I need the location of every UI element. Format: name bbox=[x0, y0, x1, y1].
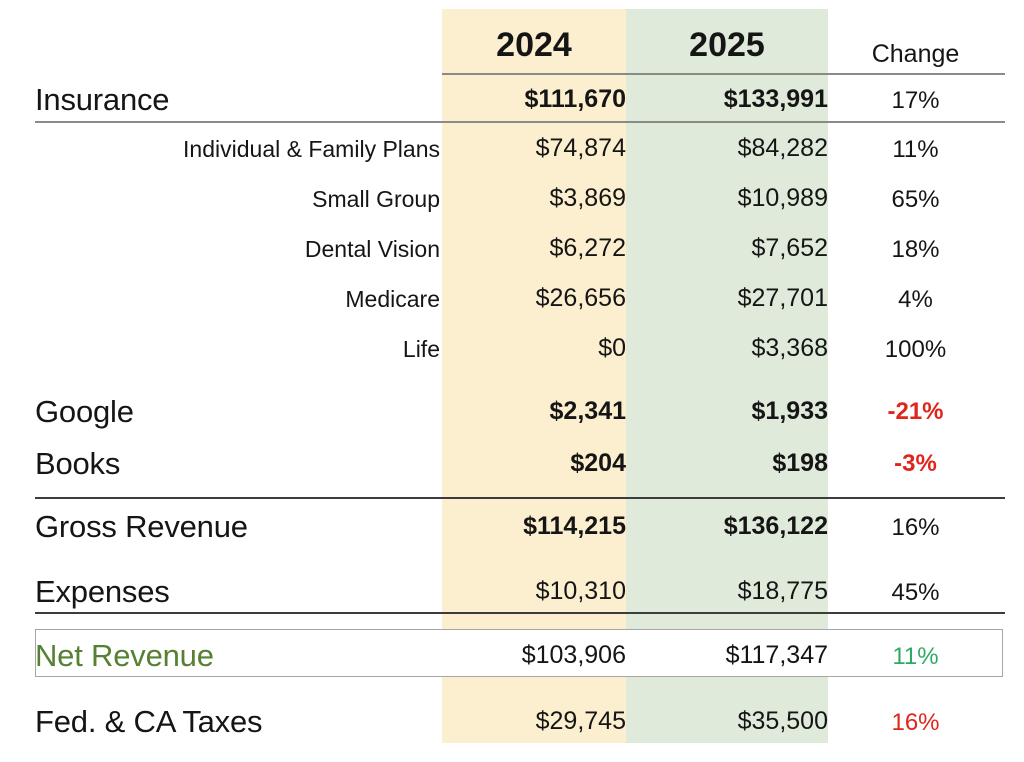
row-value-2024: $10,310 bbox=[442, 579, 626, 604]
row-label-fed-ca-taxes: Fed. & CA Taxes bbox=[35, 706, 262, 737]
row-value-2025: $84,282 bbox=[626, 136, 828, 161]
row-value-2025: $136,122 bbox=[626, 514, 828, 539]
row-label-expenses: Expenses bbox=[35, 576, 170, 607]
row-value-2025: $10,989 bbox=[626, 186, 828, 211]
column-header-2024: 2024 bbox=[442, 28, 626, 62]
row-change: 11% bbox=[828, 138, 1003, 162]
row-value-2024: $0 bbox=[442, 336, 626, 361]
row-change: 18% bbox=[828, 238, 1003, 262]
row-change: 11% bbox=[828, 645, 1003, 669]
row-label-medicare: Medicare bbox=[40, 288, 440, 311]
row-label-gross-revenue: Gross Revenue bbox=[35, 511, 248, 542]
row-change: 4% bbox=[828, 288, 1003, 312]
row-value-2025: $18,775 bbox=[626, 579, 828, 604]
row-value-2025: $3,368 bbox=[626, 336, 828, 361]
row-value-2024: $26,656 bbox=[442, 286, 626, 311]
row-change: 100% bbox=[828, 338, 1003, 362]
row-value-2024: $103,906 bbox=[442, 643, 626, 668]
row-value-2025: $133,991 bbox=[626, 87, 828, 112]
row-value-2024: $6,272 bbox=[442, 236, 626, 261]
row-change: -21% bbox=[828, 400, 1003, 424]
row-label-individual-family-plans: Individual & Family Plans bbox=[40, 138, 440, 161]
row-change: 16% bbox=[828, 711, 1003, 735]
financial-summary-table: 2024 2025 Change Insurance $111,670 $133… bbox=[0, 0, 1024, 762]
row-value-2024: $111,670 bbox=[442, 87, 626, 112]
expenses-bottomline bbox=[35, 612, 1005, 614]
row-value-2024: $114,215 bbox=[442, 514, 626, 539]
column-header-2025: 2025 bbox=[626, 28, 828, 62]
row-value-2024: $204 bbox=[442, 451, 626, 476]
row-change: 65% bbox=[828, 188, 1003, 212]
header-underline bbox=[442, 73, 1005, 75]
column-header-change: Change bbox=[828, 42, 1003, 67]
row-label-insurance: Insurance bbox=[35, 84, 169, 115]
row-value-2024: $3,869 bbox=[442, 186, 626, 211]
row-change: -3% bbox=[828, 452, 1003, 476]
row-change: 16% bbox=[828, 516, 1003, 540]
row-value-2025: $7,652 bbox=[626, 236, 828, 261]
row-label-net-revenue: Net Revenue bbox=[35, 640, 214, 671]
insurance-underline bbox=[35, 121, 1005, 123]
row-value-2024: $2,341 bbox=[442, 399, 626, 424]
row-value-2024: $29,745 bbox=[442, 709, 626, 734]
row-label-google: Google bbox=[35, 396, 134, 427]
row-change: 17% bbox=[828, 89, 1003, 113]
row-value-2025: $117,347 bbox=[626, 643, 828, 668]
row-value-2025: $27,701 bbox=[626, 286, 828, 311]
row-value-2024: $74,874 bbox=[442, 136, 626, 161]
row-change: 45% bbox=[828, 581, 1003, 605]
row-label-life: Life bbox=[40, 338, 440, 361]
row-value-2025: $35,500 bbox=[626, 709, 828, 734]
row-value-2025: $1,933 bbox=[626, 399, 828, 424]
row-label-small-group: Small Group bbox=[40, 188, 440, 211]
row-value-2025: $198 bbox=[626, 451, 828, 476]
row-label-books: Books bbox=[35, 448, 120, 479]
gross-revenue-topline bbox=[35, 497, 1005, 499]
row-label-dental-vision: Dental Vision bbox=[40, 238, 440, 261]
